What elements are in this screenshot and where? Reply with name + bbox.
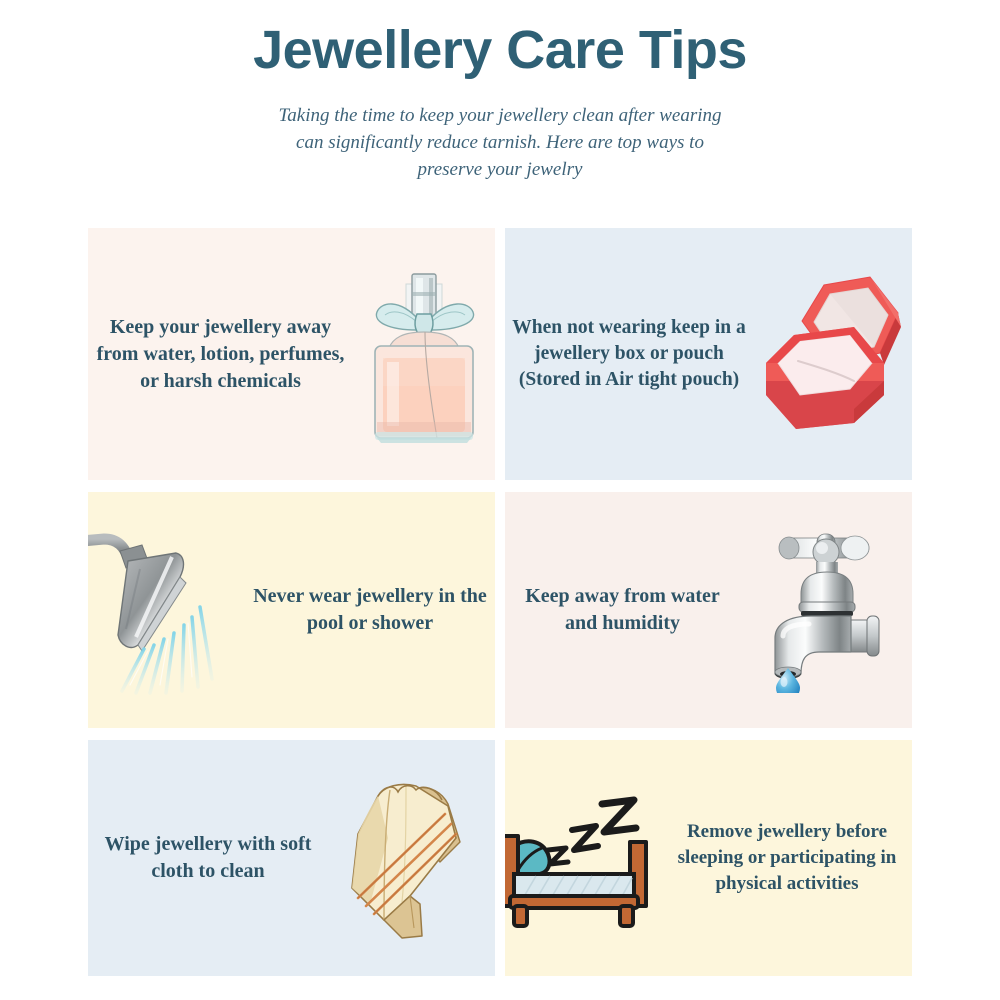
tip-card-text: Wipe jewellery with soft cloth to clean: [88, 831, 328, 885]
tip-card-text: Never wear jewellery in the pool or show…: [245, 583, 495, 637]
tip-card-text: Keep away from water and humidity: [505, 583, 740, 637]
page-subtitle: Taking the time to keep your jewellery c…: [275, 80, 725, 183]
perfume-bottle-icon: [359, 262, 489, 447]
page-title: Jewellery Care Tips: [0, 0, 1000, 80]
infographic-page: Jewellery Care Tips Taking the time to k…: [0, 0, 1000, 1000]
tip-card-text: Remove jewellery before sleeping or part…: [662, 819, 912, 897]
tip-card-art: [353, 228, 495, 480]
tips-grid: Keep your jewellery away from water, lot…: [88, 228, 912, 988]
grid-row: Wipe jewellery with soft cloth to clean: [88, 740, 912, 976]
grid-row: Keep your jewellery away from water, lot…: [88, 228, 912, 480]
tip-card-text: Keep your jewellery away from water, lot…: [88, 314, 353, 395]
tip-card-shower[interactable]: Never wear jewellery in the pool or show…: [88, 492, 495, 728]
tip-card-art: [740, 492, 912, 728]
tip-card-bed[interactable]: Remove jewellery before sleeping or part…: [505, 740, 912, 976]
tip-card-art: [328, 740, 495, 976]
tip-card-art: [88, 492, 245, 728]
bed-sleep-icon: [505, 788, 662, 928]
grid-row: Never wear jewellery in the pool or show…: [88, 492, 912, 728]
tip-card-art: [753, 228, 912, 480]
cleaning-cloth-icon: [344, 776, 479, 941]
header: Jewellery Care Tips Taking the time to k…: [0, 0, 1000, 183]
tip-card-cloth[interactable]: Wipe jewellery with soft cloth to clean: [88, 740, 495, 976]
tip-card-jewellery-box[interactable]: When not wearing keep in a jewellery box…: [505, 228, 912, 480]
tip-card-art: [505, 740, 662, 976]
ring-box-icon: [758, 269, 908, 439]
tip-card-faucet[interactable]: Keep away from water and humidity: [505, 492, 912, 728]
tip-card-perfume[interactable]: Keep your jewellery away from water, lot…: [88, 228, 495, 480]
shower-head-icon: [88, 525, 245, 695]
faucet-icon: [759, 528, 894, 693]
tip-card-text: When not wearing keep in a jewellery box…: [505, 315, 753, 393]
